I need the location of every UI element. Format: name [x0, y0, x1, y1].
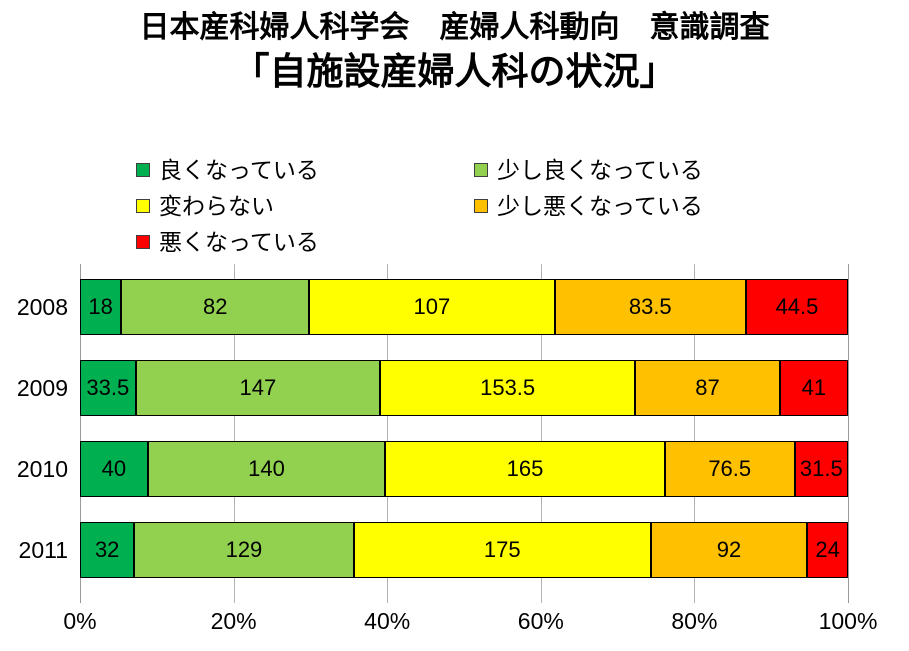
legend-label: 良くなっている: [159, 157, 319, 183]
bar-value-label: 107: [414, 296, 451, 318]
bar-segment[interactable]: 32: [80, 522, 134, 578]
legend-row: 良くなっている 少し良くなっている: [136, 152, 756, 188]
bar-value-label: 175: [484, 539, 521, 561]
bar-value-label: 83.5: [629, 296, 672, 318]
legend-item-0[interactable]: 良くなっている: [136, 152, 474, 188]
bar-value-label: 33.5: [86, 377, 129, 399]
title-line-1: 日本産科婦人科学会 産婦人科動向 意識調査: [0, 8, 909, 48]
bar-value-label: 147: [240, 377, 277, 399]
bar-value-label: 18: [88, 296, 112, 318]
category-label-2009: 2009: [17, 360, 68, 416]
bar-segment[interactable]: 83.5: [555, 279, 746, 335]
bar-segment[interactable]: 129: [134, 522, 353, 578]
legend-swatch-icon: [136, 235, 150, 249]
bar-segment[interactable]: 44.5: [746, 279, 848, 335]
bar-value-label: 32: [95, 539, 119, 561]
legend-item-3[interactable]: 少し悪くなっている: [474, 188, 754, 224]
x-tick-label: 100%: [819, 608, 878, 635]
bar-segment[interactable]: 92: [651, 522, 807, 578]
legend-label: 少し良くなっている: [497, 157, 703, 183]
bar-value-label: 87: [695, 377, 719, 399]
chart-legend: 良くなっている 少し良くなっている 変わらない 少し悪くなっている 悪くなってい…: [136, 152, 756, 260]
bar-value-label: 82: [203, 296, 227, 318]
legend-item-2[interactable]: 変わらない: [136, 188, 474, 224]
legend-swatch-icon: [136, 163, 150, 177]
bar-row: 4014016576.531.5: [80, 441, 848, 497]
bar-value-label: 92: [717, 539, 741, 561]
bar-segment[interactable]: 165: [385, 441, 665, 497]
legend-label: 少し悪くなっている: [497, 193, 703, 219]
legend-row: 変わらない 少し悪くなっている: [136, 188, 756, 224]
gridline: [848, 264, 849, 603]
bar-segment[interactable]: 31.5: [795, 441, 848, 497]
category-label-2010: 2010: [17, 441, 68, 497]
category-label-2011: 2011: [19, 522, 68, 578]
chart-title: 日本産科婦人科学会 産婦人科動向 意識調査 「自施設産婦人科の状況」: [0, 8, 909, 96]
bar-segment[interactable]: 82: [121, 279, 309, 335]
bar-value-label: 140: [248, 458, 285, 480]
bar-segment[interactable]: 107: [309, 279, 554, 335]
title-line-2: 「自施設産婦人科の状況」: [0, 48, 909, 96]
bar-value-label: 31.5: [800, 458, 843, 480]
plot-area: 188210783.544.533.5147153.58741401401657…: [80, 264, 848, 603]
bar-segment[interactable]: 76.5: [665, 441, 795, 497]
legend-label: 変わらない: [159, 193, 274, 219]
legend-label: 悪くなっている: [159, 229, 319, 255]
legend-swatch-icon: [136, 199, 150, 213]
bar-row: 33.5147153.58741: [80, 360, 848, 416]
bar-segment[interactable]: 18: [80, 279, 121, 335]
legend-item-empty: [474, 224, 754, 260]
bar-value-label: 41: [802, 377, 826, 399]
bar-segment[interactable]: 24: [807, 522, 848, 578]
bar-segment[interactable]: 33.5: [80, 360, 136, 416]
category-label-2008: 2008: [17, 279, 68, 335]
legend-item-4[interactable]: 悪くなっている: [136, 224, 474, 260]
value-axis: 0%20%40%60%80%100%: [80, 608, 848, 644]
legend-swatch-icon: [474, 163, 488, 177]
x-tick-label: 80%: [671, 608, 717, 635]
category-axis: 2008200920102011: [0, 264, 76, 603]
bar-segment[interactable]: 40: [80, 441, 148, 497]
bar-value-label: 76.5: [708, 458, 751, 480]
bar-segment[interactable]: 147: [136, 360, 380, 416]
bar-segment[interactable]: 175: [354, 522, 651, 578]
bar-segment[interactable]: 140: [148, 441, 385, 497]
bar-value-label: 165: [507, 458, 544, 480]
bar-row: 321291759224: [80, 522, 848, 578]
x-tick-label: 60%: [518, 608, 564, 635]
legend-item-1[interactable]: 少し良くなっている: [474, 152, 754, 188]
bar-value-label: 24: [815, 539, 839, 561]
bar-row: 188210783.544.5: [80, 279, 848, 335]
bar-value-label: 40: [102, 458, 126, 480]
bar-segment[interactable]: 87: [635, 360, 780, 416]
bar-series-container: 188210783.544.533.5147153.58741401401657…: [80, 264, 848, 603]
bar-value-label: 44.5: [776, 296, 819, 318]
x-tick-label: 20%: [211, 608, 257, 635]
legend-row: 悪くなっている: [136, 224, 756, 260]
bar-segment[interactable]: 41: [780, 360, 848, 416]
x-tick-label: 0%: [63, 608, 96, 635]
bar-value-label: 129: [226, 539, 263, 561]
bar-value-label: 153.5: [480, 377, 535, 399]
legend-swatch-icon: [474, 199, 488, 213]
bar-segment[interactable]: 153.5: [380, 360, 635, 416]
x-tick-label: 40%: [364, 608, 410, 635]
